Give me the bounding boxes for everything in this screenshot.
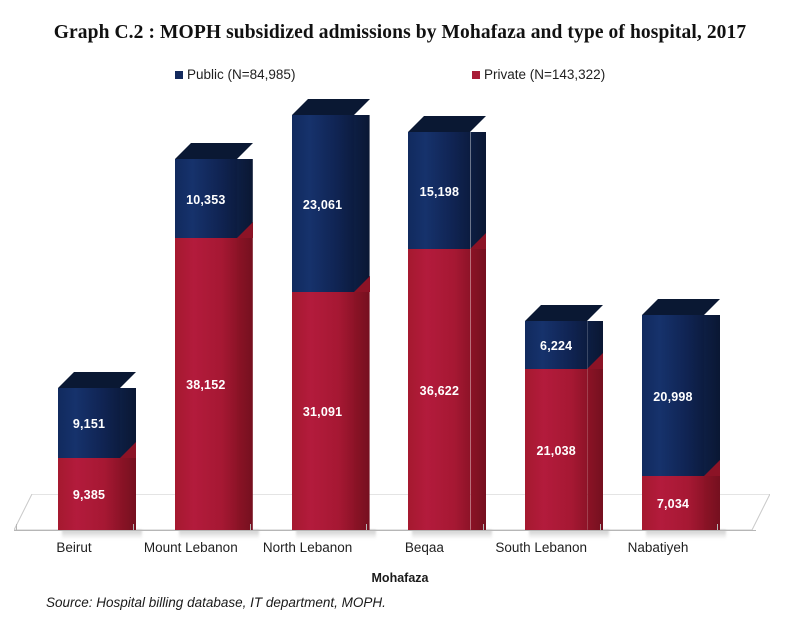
segment-side-face bbox=[470, 249, 486, 530]
chart-container: Graph C.2 : MOPH subsidized admissions b… bbox=[0, 0, 800, 628]
segment-side-face bbox=[704, 315, 720, 476]
bar-segment-private[interactable] bbox=[58, 458, 120, 530]
x-axis-tick bbox=[250, 524, 251, 531]
segment-front-face bbox=[58, 458, 120, 530]
bar-segment-divider-cap bbox=[525, 353, 603, 369]
segment-front-face bbox=[292, 115, 354, 292]
stacked-bar: 38,15210,353 bbox=[175, 159, 237, 530]
bar-top-cap bbox=[642, 299, 720, 315]
x-axis-label-beirut: Beirut bbox=[16, 540, 132, 555]
segment-side-face bbox=[704, 476, 720, 530]
bar-segment-public[interactable] bbox=[642, 315, 704, 476]
x-axis-label-beqaa: Beqaa bbox=[366, 540, 482, 555]
bar-shadow bbox=[296, 530, 376, 539]
segment-side-face bbox=[470, 132, 486, 249]
segment-side-face bbox=[120, 458, 136, 530]
segment-side-face bbox=[354, 292, 370, 530]
x-axis-label-north-lebanon: North Lebanon bbox=[250, 540, 366, 555]
segment-side-face bbox=[587, 369, 603, 530]
bar-segment-divider-cap bbox=[292, 276, 370, 292]
bar-shadow bbox=[179, 530, 259, 539]
bar-shadow bbox=[412, 530, 492, 539]
legend-square-icon-public bbox=[175, 71, 183, 79]
bar-shadow bbox=[529, 530, 609, 539]
chart-title: Graph C.2 : MOPH subsidized admissions b… bbox=[50, 20, 750, 45]
legend-label-public: Public (N=84,985) bbox=[187, 67, 295, 82]
x-axis-tick bbox=[483, 524, 484, 531]
legend-item-public[interactable]: Public (N=84,985) bbox=[175, 67, 295, 82]
bar-top-cap bbox=[58, 372, 136, 388]
bar-segment-divider-cap bbox=[642, 460, 720, 476]
bar-shadow bbox=[646, 530, 726, 539]
segment-side-face bbox=[237, 238, 253, 530]
bar-segment-divider-cap bbox=[175, 222, 253, 238]
stacked-bar: 31,09123,061 bbox=[292, 115, 354, 530]
bar-top-cap bbox=[175, 143, 253, 159]
stacked-bar: 7,03420,998 bbox=[642, 315, 704, 530]
segment-front-face bbox=[408, 249, 470, 530]
segment-front-face bbox=[408, 132, 470, 249]
x-axis-label-mount-lebanon: Mount Lebanon bbox=[133, 540, 249, 555]
stacked-bar: 9,3859,151 bbox=[58, 388, 120, 530]
x-axis-tick bbox=[366, 524, 367, 531]
chart-legend: Public (N=84,985) Private (N=143,322) bbox=[0, 67, 800, 87]
bar-segment-private[interactable] bbox=[408, 249, 470, 530]
source-note: Source: Hospital billing database, IT de… bbox=[46, 595, 386, 610]
bar-top-cap bbox=[292, 99, 370, 115]
segment-front-face bbox=[525, 369, 587, 530]
x-axis-title: Mohafaza bbox=[0, 571, 800, 585]
legend-label-private: Private (N=143,322) bbox=[484, 67, 605, 82]
stacked-bar: 21,0386,224 bbox=[525, 321, 587, 530]
bar-top-cap bbox=[525, 305, 603, 321]
x-axis-tick bbox=[16, 524, 17, 531]
plot-area: 9,3859,15138,15210,35331,09123,06136,622… bbox=[0, 90, 800, 530]
bar-top-cap bbox=[408, 116, 486, 132]
bar-segment-private[interactable] bbox=[175, 238, 237, 530]
bar-segment-public[interactable] bbox=[292, 115, 354, 292]
bar-segment-divider-cap bbox=[408, 233, 486, 249]
x-axis-label-nabatiyeh: Nabatiyeh bbox=[600, 540, 716, 555]
legend-item-private[interactable]: Private (N=143,322) bbox=[472, 67, 605, 82]
bar-segment-private[interactable] bbox=[642, 476, 704, 530]
segment-front-face bbox=[642, 315, 704, 476]
bar-segment-private[interactable] bbox=[292, 292, 354, 530]
bar-segment-divider-cap bbox=[58, 442, 136, 458]
x-axis-tick bbox=[133, 524, 134, 531]
x-axis-tick bbox=[600, 524, 601, 531]
segment-front-face bbox=[292, 292, 354, 530]
bar-shadow bbox=[62, 530, 142, 539]
segment-front-face bbox=[642, 476, 704, 530]
stacked-bar: 36,62215,198 bbox=[408, 132, 470, 530]
segment-front-face bbox=[175, 238, 237, 530]
bar-segment-public[interactable] bbox=[408, 132, 470, 249]
segment-side-face bbox=[354, 115, 370, 292]
legend-square-icon-private bbox=[472, 71, 480, 79]
x-axis-tick bbox=[717, 524, 718, 531]
x-axis-line bbox=[14, 530, 756, 531]
x-axis-label-south-lebanon: South Lebanon bbox=[483, 540, 599, 555]
bar-segment-private[interactable] bbox=[525, 369, 587, 530]
